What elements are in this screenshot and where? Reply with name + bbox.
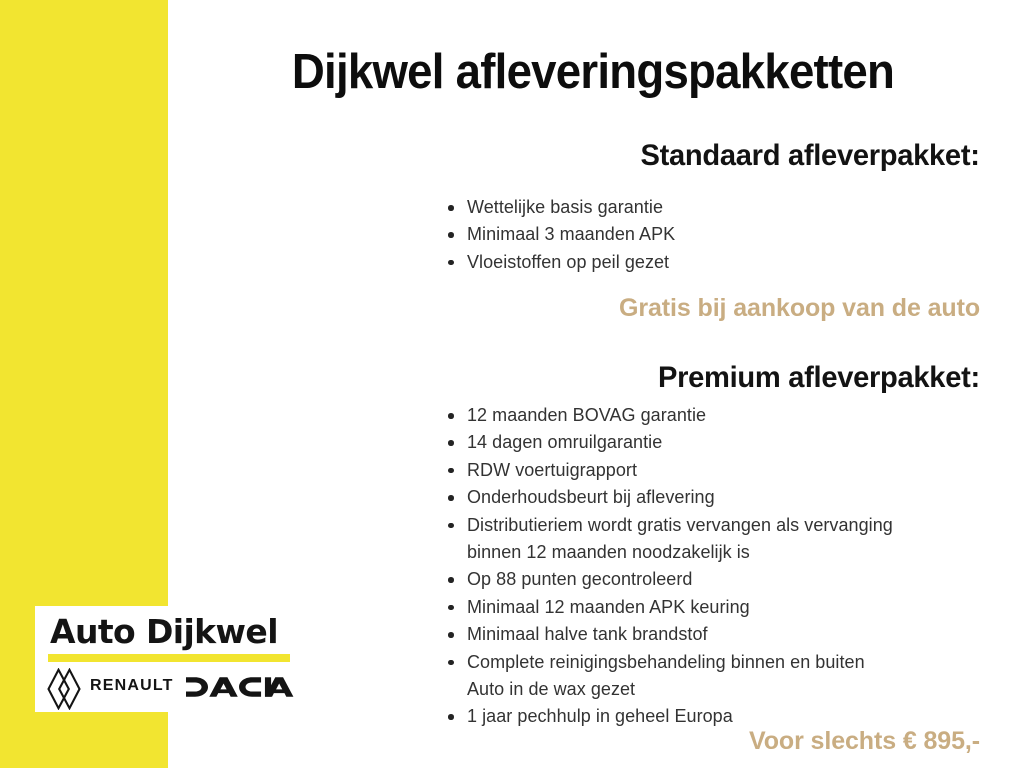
list-item: 12 maanden BOVAG garantie (447, 402, 984, 429)
dacia-wordmark-icon (185, 676, 297, 698)
poster-canvas: Dijkwel afleveringspakketten Standaard a… (0, 0, 1024, 768)
list-item-label: 1 jaar pechhulp in geheel Europa (467, 706, 733, 726)
list-item-label: Onderhoudsbeurt bij aflevering (467, 487, 715, 507)
brand-row: RENAULT (45, 668, 300, 710)
list-item: Minimaal halve tank brandstof (447, 621, 984, 648)
standard-package-list: Wettelijke basis garantie Minimaal 3 maa… (447, 194, 984, 276)
renault-diamond-icon (47, 668, 81, 710)
list-item: Minimaal 3 maanden APK (447, 221, 984, 248)
list-item-label: Vloeistoffen op peil gezet (467, 252, 669, 272)
standard-package-tagline: Gratis bij aankoop van de auto (619, 293, 980, 323)
list-item: Vloeistoffen op peil gezet (447, 249, 984, 276)
list-item-label: 12 maanden BOVAG garantie (467, 405, 706, 425)
premium-package-price: Voor slechts € 895,- (749, 726, 980, 756)
list-item: Minimaal 12 maanden APK keuring (447, 594, 984, 621)
list-item: RDW voertuigrapport (447, 457, 984, 484)
list-item-label: Op 88 punten gecontroleerd (467, 569, 692, 589)
list-item-label: 14 dagen omruilgarantie (467, 432, 662, 452)
list-item-label-continued: binnen 12 maanden noodzakelijk is (467, 539, 984, 566)
dealer-wordmark: Auto Dijkwel (50, 612, 278, 652)
list-item: Op 88 punten gecontroleerd (447, 566, 984, 593)
list-item-label: Minimaal 3 maanden APK (467, 224, 675, 244)
list-item-label: Minimaal halve tank brandstof (467, 624, 708, 644)
list-item: 14 dagen omruilgarantie (447, 429, 984, 456)
list-item-label: Minimaal 12 maanden APK keuring (467, 597, 750, 617)
list-item: Complete reinigingsbehandeling binnen en… (447, 649, 984, 704)
list-item: Distributieriem wordt gratis vervangen a… (447, 512, 984, 567)
dealer-logo-card: Auto Dijkwel RENAULT (35, 606, 305, 712)
renault-label: RENAULT (90, 677, 174, 695)
list-item: Onderhoudsbeurt bij aflevering (447, 484, 984, 511)
list-item-label: RDW voertuigrapport (467, 460, 637, 480)
list-item-label: Wettelijke basis garantie (467, 197, 663, 217)
page-title: Dijkwel afleveringspakketten (207, 42, 979, 102)
list-item: Wettelijke basis garantie (447, 194, 984, 221)
list-item-label-continued: Auto in de wax gezet (467, 676, 984, 703)
standard-package-heading: Standaard afleverpakket: (641, 138, 980, 174)
premium-package-heading: Premium afleverpakket: (658, 360, 980, 396)
dealer-logo-underline (48, 654, 290, 662)
list-item-label: Complete reinigingsbehandeling binnen en… (467, 652, 865, 672)
list-item-label: Distributieriem wordt gratis vervangen a… (467, 515, 893, 535)
premium-package-list: 12 maanden BOVAG garantie 14 dagen omrui… (447, 402, 984, 731)
